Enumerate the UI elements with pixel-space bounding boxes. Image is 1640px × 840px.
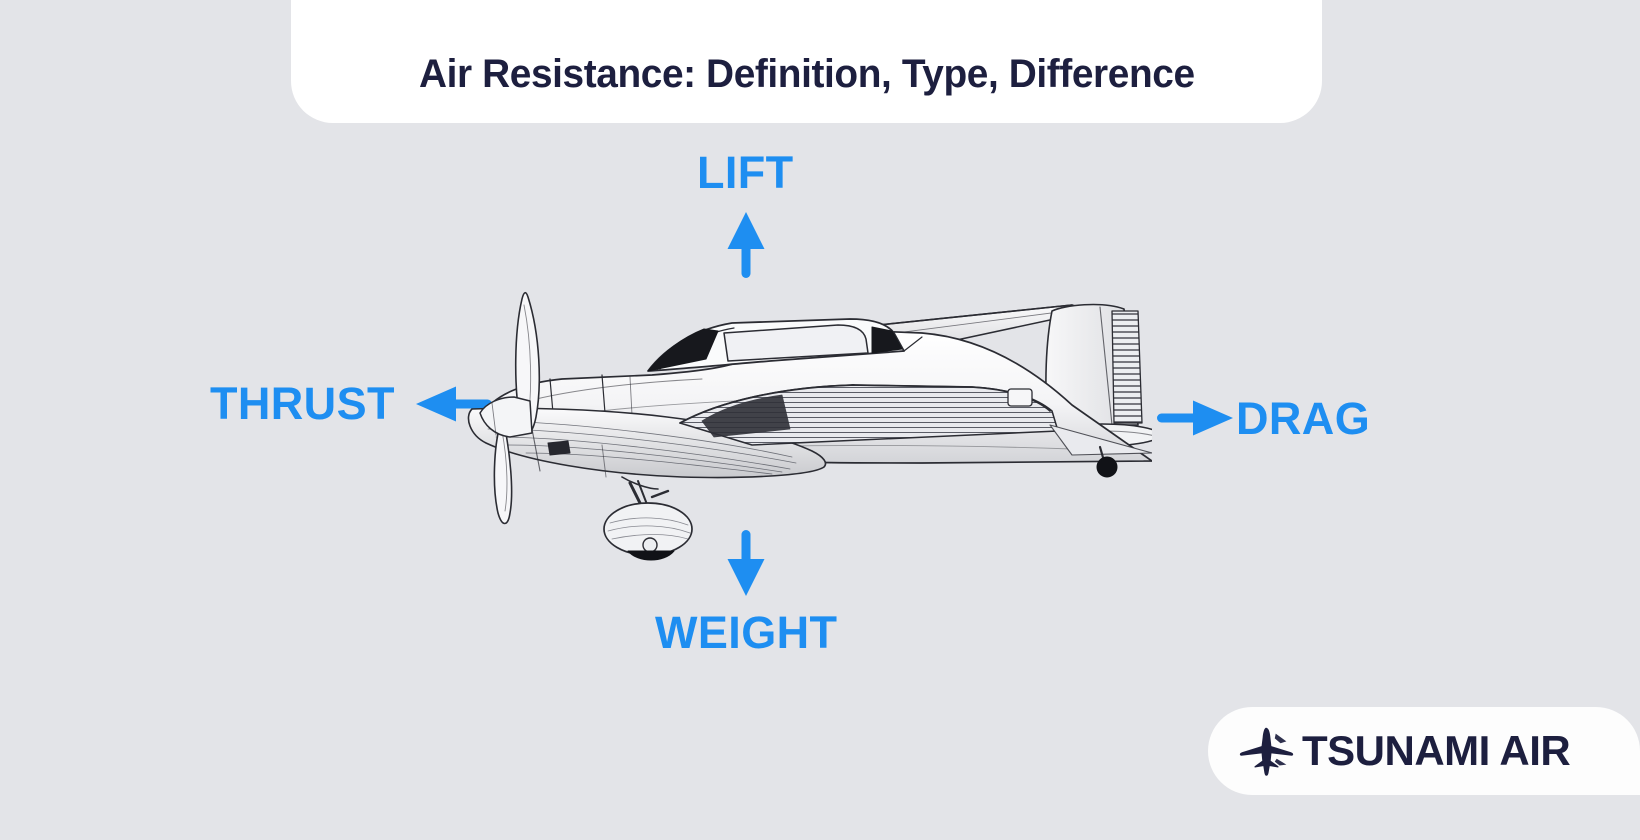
arrow-up-icon bbox=[723, 210, 769, 280]
force-label-drag: DRAG bbox=[1236, 396, 1370, 441]
infographic-canvas: Air Resistance: Definition, Type, Differ… bbox=[0, 0, 1640, 840]
force-label-thrust: THRUST bbox=[210, 381, 395, 426]
force-label-lift: LIFT bbox=[697, 150, 794, 195]
brand-name: TSUNAMI AIR bbox=[1302, 727, 1570, 775]
brand-logo: TSUNAMI AIR bbox=[1208, 707, 1640, 795]
airplane-icon bbox=[1236, 720, 1298, 782]
airplane-illustration bbox=[452, 275, 1152, 575]
arrow-right-icon bbox=[1155, 400, 1235, 436]
airplane-line-art-icon bbox=[452, 275, 1152, 575]
header-card: Air Resistance: Definition, Type, Differ… bbox=[291, 0, 1322, 123]
page-title: Air Resistance: Definition, Type, Differ… bbox=[419, 52, 1195, 97]
force-label-weight: WEIGHT bbox=[655, 610, 837, 655]
